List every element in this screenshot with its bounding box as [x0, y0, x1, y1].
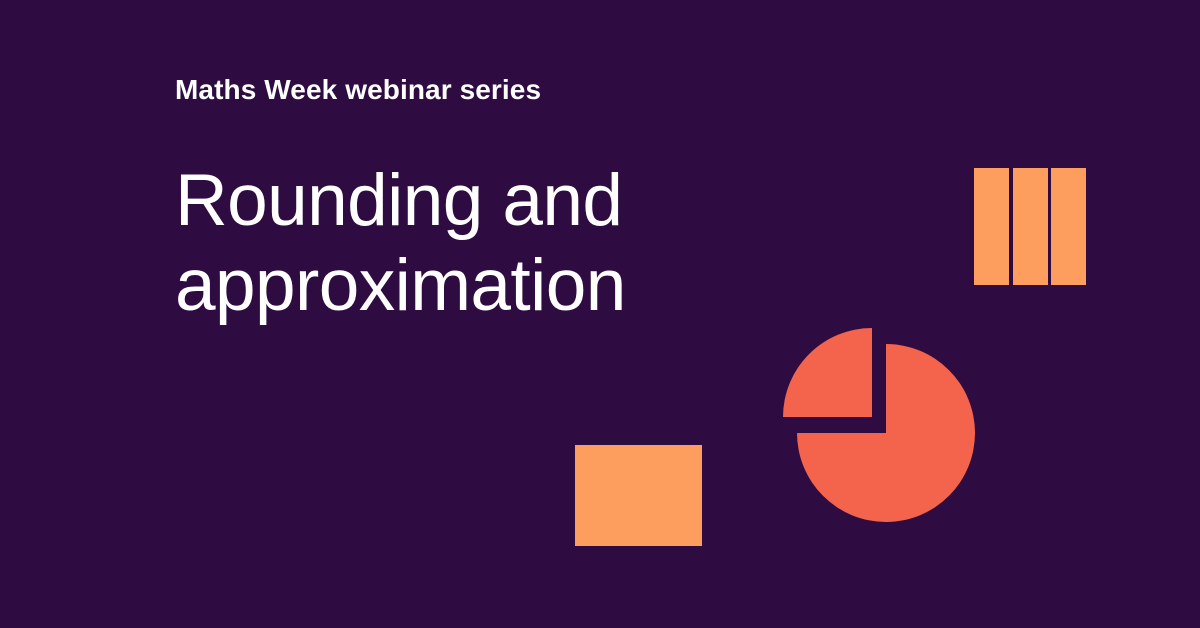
page-title: Rounding and approximation — [175, 158, 795, 328]
square-icon — [575, 445, 702, 546]
bar-chart-bar-1 — [974, 168, 1009, 285]
webinar-title-card: Maths Week webinar series Rounding and a… — [0, 0, 1200, 628]
page-title-line-1: Rounding and — [175, 158, 795, 243]
bar-chart-icon — [974, 168, 1086, 285]
pie-slice-exploded-quarter — [783, 328, 872, 417]
pie-chart-svg — [775, 320, 985, 535]
page-title-line-2: approximation — [175, 243, 795, 328]
bar-chart-bar-3 — [1051, 168, 1086, 285]
pie-chart-icon — [775, 320, 985, 535]
bar-chart-bar-2 — [1013, 168, 1048, 285]
text-block: Maths Week webinar series Rounding and a… — [175, 70, 795, 328]
eyebrow-series-label: Maths Week webinar series — [175, 70, 795, 110]
